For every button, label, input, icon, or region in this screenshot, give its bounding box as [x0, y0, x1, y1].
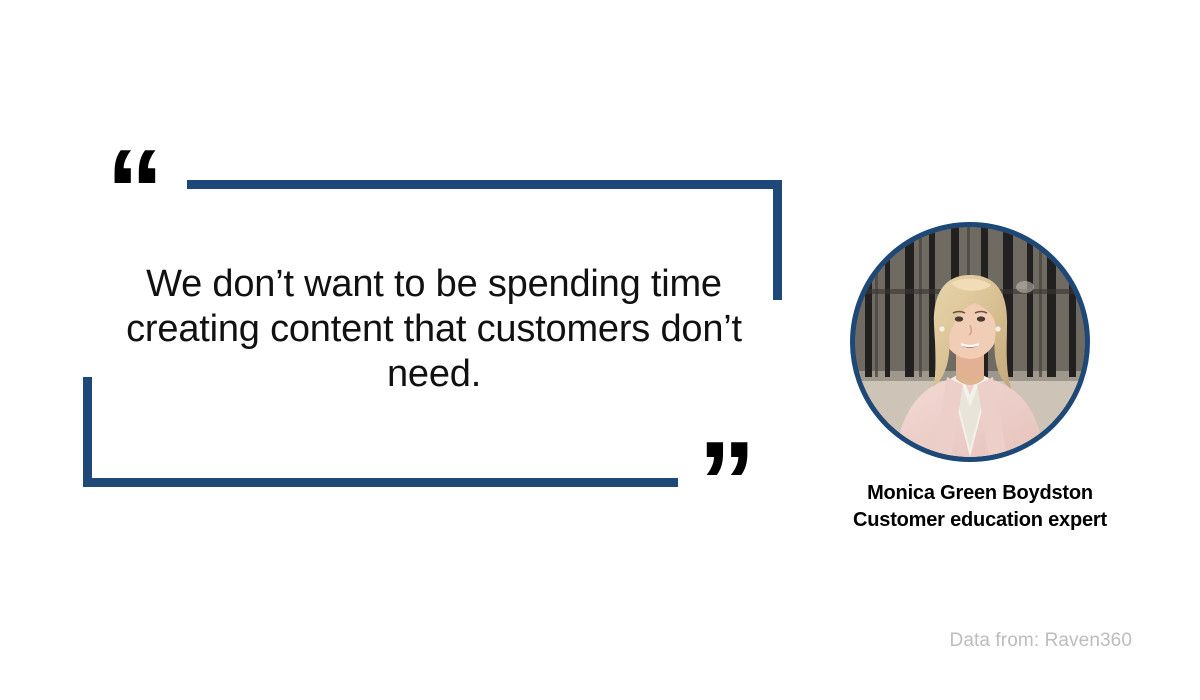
- quote-slide: “ ” We don’t want to be spending time cr…: [0, 0, 1200, 700]
- bracket-left-line: [83, 377, 92, 487]
- close-quote-icon: ”: [698, 424, 754, 540]
- attribution-block: Monica Green Boydston Customer education…: [800, 480, 1160, 534]
- bracket-bottom-line: [83, 478, 678, 487]
- quote-text: We don’t want to be spending time creati…: [96, 262, 772, 396]
- portrait-image: [855, 227, 1085, 457]
- avatar: [850, 222, 1090, 462]
- speaker-name: Monica Green Boydston: [867, 482, 1093, 504]
- speaker-role: Customer education expert: [800, 507, 1160, 534]
- bracket-right-line: [773, 180, 782, 300]
- source-note: Data from: Raven360: [950, 630, 1133, 652]
- bracket-top-line: [187, 180, 782, 189]
- open-quote-icon: “: [106, 132, 162, 248]
